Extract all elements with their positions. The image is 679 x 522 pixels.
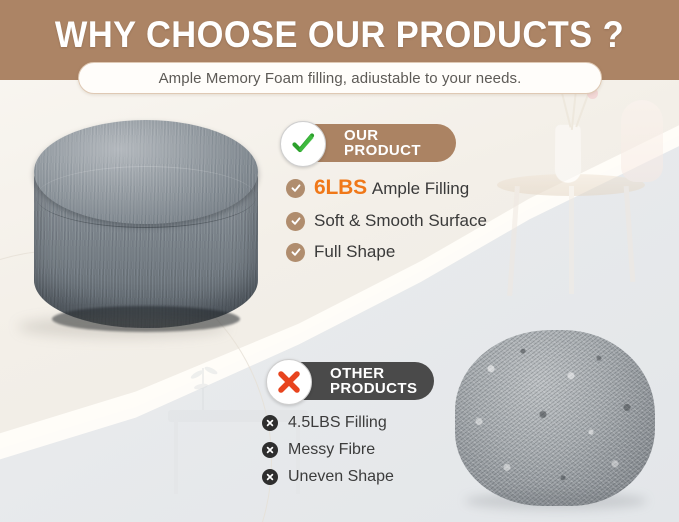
feature-label: Messy Fibre	[288, 441, 375, 459]
badge-line-1: OTHER	[330, 366, 417, 381]
feature-row: 6LBSAmple Filling	[286, 176, 556, 200]
flower-stem	[560, 90, 571, 127]
red-x-icon	[275, 368, 303, 396]
plant-leaf	[204, 365, 219, 375]
white-vase	[555, 125, 582, 183]
feature-label: Soft & Smooth Surface	[314, 211, 487, 231]
badge-line-1: OUR	[344, 128, 421, 143]
badge-line-2: PRODUCT	[344, 143, 421, 158]
check-badge-circle	[280, 121, 326, 167]
plant-stem	[202, 368, 204, 410]
pink-vase	[621, 100, 663, 182]
x-bullet-icon	[262, 442, 278, 458]
badge-line-2: PRODUCTS	[330, 381, 417, 396]
our-product-feature-list: 6LBSAmple Filling Soft & Smooth Surface …	[286, 176, 556, 273]
our-product-image	[28, 110, 264, 338]
feature-row: Messy Fibre	[262, 441, 512, 459]
x-bullet-icon	[262, 469, 278, 485]
subtitle-text: Ample Memory Foam filling, adiustable to…	[159, 70, 522, 87]
x-badge-circle	[266, 359, 312, 405]
other-products-badge: OTHER PRODUCTS	[282, 362, 434, 400]
feature-text: 6LBSAmple Filling	[314, 176, 469, 200]
our-product-ground-shadow	[18, 316, 228, 338]
other-products-feature-list: 4.5LBS Filling Messy Fibre Uneven Shape	[262, 414, 512, 495]
feature-highlight: 6LBS	[314, 176, 367, 199]
check-bullet-icon	[286, 179, 305, 198]
other-products-badge-label: OTHER PRODUCTS	[330, 366, 417, 396]
feature-label: Full Shape	[314, 242, 395, 262]
our-product-badge: OUR PRODUCT	[296, 124, 456, 162]
pouf-seam	[36, 166, 256, 228]
feature-label: 4.5LBS Filling	[288, 414, 387, 432]
feature-row: Full Shape	[286, 242, 556, 262]
feature-row: Soft & Smooth Surface	[286, 211, 556, 231]
plant-leaf	[194, 383, 209, 391]
feature-label: Ample Filling	[372, 179, 469, 198]
flower-stem	[575, 95, 589, 128]
x-bullet-icon	[262, 415, 278, 431]
feature-row: 4.5LBS Filling	[262, 414, 512, 432]
side-table-leg	[569, 186, 574, 294]
green-check-icon	[289, 130, 317, 158]
our-product-badge-label: OUR PRODUCT	[344, 128, 421, 158]
subtitle-pill: Ample Memory Foam filling, adiustable to…	[78, 62, 602, 94]
feature-label: Uneven Shape	[288, 468, 394, 486]
product-comparison-poster: WHY CHOOSE OUR PRODUCTS ? Ample Memory F…	[0, 0, 679, 522]
console-table-leg	[174, 420, 178, 494]
check-bullet-icon	[286, 243, 305, 262]
page-title: WHY CHOOSE OUR PRODUCTS ?	[24, 14, 655, 56]
check-bullet-icon	[286, 212, 305, 231]
feature-row: Uneven Shape	[262, 468, 512, 486]
side-table-leg	[624, 186, 636, 282]
